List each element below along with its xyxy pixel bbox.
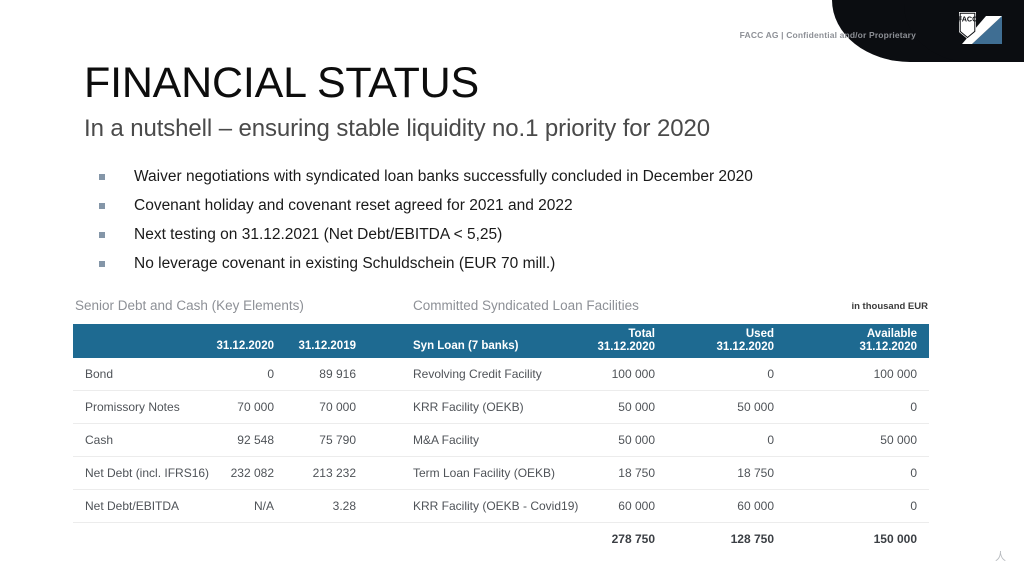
table-row: Cash 92 548 75 790 M&A Facility 50 000 0… — [73, 424, 929, 457]
header-available-line1: Available — [859, 328, 917, 341]
bullet-square-icon — [99, 232, 105, 238]
header-used-line1: Used — [716, 328, 774, 341]
right-row-total: 100 000 — [612, 367, 655, 381]
bullet-square-icon — [99, 261, 105, 267]
table-header-row: 31.12.2020 31.12.2019 Syn Loan (7 banks)… — [73, 324, 929, 358]
right-row-used: 0 — [767, 367, 774, 381]
unit-note: in thousand EUR — [851, 301, 928, 312]
left-row-2020: 70 000 — [237, 400, 274, 414]
page-title: FINANCIAL STATUS — [84, 58, 479, 108]
header-available: Available 31.12.2020 — [859, 328, 917, 354]
table-body: Bond 0 89 916 Revolving Credit Facility … — [73, 358, 929, 553]
left-row-2019: 3.28 — [333, 499, 356, 513]
left-row-2019: 89 916 — [319, 367, 356, 381]
right-row-total: 50 000 — [618, 400, 655, 414]
totals-available: 150 000 — [874, 532, 917, 546]
bullet-square-icon — [99, 203, 105, 209]
bullet-text: Covenant holiday and covenant reset agre… — [134, 195, 573, 216]
confidential-note: FACC AG | Confidential and/or Proprietar… — [740, 30, 916, 40]
left-row-label: Bond — [85, 367, 113, 381]
right-row-label: KRR Facility (OEKB - Covid19) — [413, 499, 578, 513]
left-table-caption: Senior Debt and Cash (Key Elements) — [75, 298, 304, 313]
left-row-2020: 232 082 — [231, 466, 274, 480]
header-total-line1: Total — [597, 328, 655, 341]
bullet-item: Next testing on 31.12.2021 (Net Debt/EBI… — [99, 224, 939, 253]
right-row-available: 0 — [910, 499, 917, 513]
table-totals-row: 278 750 128 750 150 000 — [73, 523, 929, 553]
right-row-label: Term Loan Facility (OEKB) — [413, 466, 555, 480]
left-row-2019: 213 232 — [313, 466, 356, 480]
header-left-2019: 31.12.2019 — [298, 340, 356, 353]
totals-total: 278 750 — [612, 532, 655, 546]
left-row-2020: N/A — [254, 499, 274, 513]
header-used-line2: 31.12.2020 — [716, 341, 774, 354]
right-row-available: 0 — [910, 400, 917, 414]
left-row-2020: 0 — [267, 367, 274, 381]
left-row-2019: 70 000 — [319, 400, 356, 414]
header-left-2020: 31.12.2020 — [216, 340, 274, 353]
right-row-used: 50 000 — [737, 400, 774, 414]
table-row: Promissory Notes 70 000 70 000 KRR Facil… — [73, 391, 929, 424]
left-row-label: Cash — [85, 433, 113, 447]
header-available-line2: 31.12.2020 — [859, 341, 917, 354]
right-table-caption: Committed Syndicated Loan Facilities — [413, 298, 639, 313]
right-row-used: 60 000 — [737, 499, 774, 513]
bullet-text: Next testing on 31.12.2021 (Net Debt/EBI… — [134, 224, 502, 245]
financial-tables: Senior Debt and Cash (Key Elements) Comm… — [73, 298, 929, 553]
table-row: Net Debt (incl. IFRS16) 232 082 213 232 … — [73, 457, 929, 490]
bullet-text: No leverage covenant in existing Schulds… — [134, 253, 555, 274]
right-row-label: Revolving Credit Facility — [413, 367, 542, 381]
left-row-2020: 92 548 — [237, 433, 274, 447]
header-syn-loan: Syn Loan (7 banks) — [413, 340, 518, 353]
right-row-label: KRR Facility (OEKB) — [413, 400, 524, 414]
right-row-available: 50 000 — [880, 433, 917, 447]
page-subtitle: In a nutshell – ensuring stable liquidit… — [84, 114, 710, 144]
header-total: Total 31.12.2020 — [597, 328, 655, 354]
right-row-used: 18 750 — [737, 466, 774, 480]
left-row-label: Net Debt (incl. IFRS16) — [85, 466, 209, 480]
right-row-label: M&A Facility — [413, 433, 479, 447]
page-corner-mark: 人 — [995, 548, 1006, 564]
logo-text: FACC — [958, 15, 978, 24]
right-row-available: 100 000 — [874, 367, 917, 381]
right-row-total: 18 750 — [618, 466, 655, 480]
right-row-available: 0 — [910, 466, 917, 480]
bullet-square-icon — [99, 174, 105, 180]
header-used: Used 31.12.2020 — [716, 328, 774, 354]
facc-logo: FACC — [946, 8, 1008, 52]
table-captions: Senior Debt and Cash (Key Elements) Comm… — [73, 298, 929, 324]
bullet-item: Waiver negotiations with syndicated loan… — [99, 166, 939, 195]
left-row-2019: 75 790 — [319, 433, 356, 447]
bullet-text: Waiver negotiations with syndicated loan… — [134, 166, 753, 187]
table-row: Bond 0 89 916 Revolving Credit Facility … — [73, 358, 929, 391]
bullet-item: No leverage covenant in existing Schulds… — [99, 253, 939, 282]
left-row-label: Net Debt/EBITDA — [85, 499, 179, 513]
left-row-label: Promissory Notes — [85, 400, 180, 414]
right-row-total: 50 000 — [618, 433, 655, 447]
header-total-line2: 31.12.2020 — [597, 341, 655, 354]
totals-used: 128 750 — [731, 532, 774, 546]
bullet-list: Waiver negotiations with syndicated loan… — [99, 166, 939, 282]
right-row-total: 60 000 — [618, 499, 655, 513]
bullet-item: Covenant holiday and covenant reset agre… — [99, 195, 939, 224]
table-row: Net Debt/EBITDA N/A 3.28 KRR Facility (O… — [73, 490, 929, 523]
right-row-used: 0 — [767, 433, 774, 447]
